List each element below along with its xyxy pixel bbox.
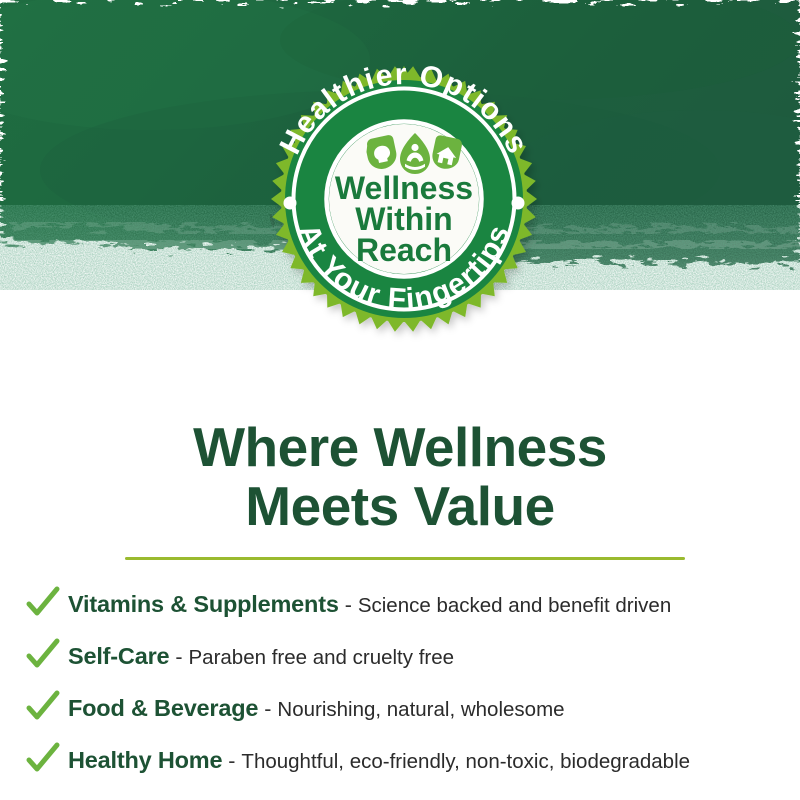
promo-banner-page: Healthier Options At Your Fingertips [0, 0, 800, 800]
badge-center-line-3: Reach [356, 232, 452, 268]
badge-icon-group [364, 133, 463, 174]
list-item-description: Thoughtful, eco-friendly, non-toxic, bio… [241, 750, 690, 773]
badge-dot-left [284, 197, 297, 210]
page-title-line-2: Meets Value [0, 477, 800, 536]
list-item-title: Healthy Home [68, 747, 222, 773]
check-icon [26, 742, 60, 776]
check-icon [26, 690, 60, 724]
list-item-text: Self-Care - Paraben free and cruelty fre… [68, 643, 454, 670]
list-item-text: Food & Beverage - Nourishing, natural, w… [68, 695, 565, 722]
list-item-text: Healthy Home - Thoughtful, eco-friendly,… [68, 747, 690, 774]
list-item-dash: - [339, 593, 358, 617]
list-item-dash: - [222, 749, 241, 773]
list-item-dash: - [258, 697, 277, 721]
check-icon [26, 638, 60, 672]
badge-graphic: Healthier Options At Your Fingertips [248, 62, 560, 337]
list-item: Food & Beverage - Nourishing, natural, w… [0, 682, 800, 734]
list-item-title: Vitamins & Supplements [68, 591, 339, 617]
title-divider [125, 557, 685, 560]
list-item-description: Science backed and benefit driven [358, 594, 671, 617]
list-item-title: Food & Beverage [68, 695, 258, 721]
list-item: Healthy Home - Thoughtful, eco-friendly,… [0, 734, 800, 786]
benefits-list: Vitamins & Supplements - Science backed … [0, 578, 800, 786]
check-icon [26, 586, 60, 620]
list-item-dash: - [169, 645, 188, 669]
page-title: Where Wellness Meets Value [0, 418, 800, 537]
badge-dot-right [512, 197, 525, 210]
list-item-title: Self-Care [68, 643, 169, 669]
page-title-line-1: Where Wellness [193, 416, 607, 478]
list-item-text: Vitamins & Supplements - Science backed … [68, 591, 671, 618]
list-item: Self-Care - Paraben free and cruelty fre… [0, 630, 800, 682]
list-item-description: Paraben free and cruelty free [189, 646, 455, 669]
list-item: Vitamins & Supplements - Science backed … [0, 578, 800, 630]
list-item-description: Nourishing, natural, wholesome [277, 698, 564, 721]
wellness-seal-badge: Healthier Options At Your Fingertips [248, 62, 560, 337]
